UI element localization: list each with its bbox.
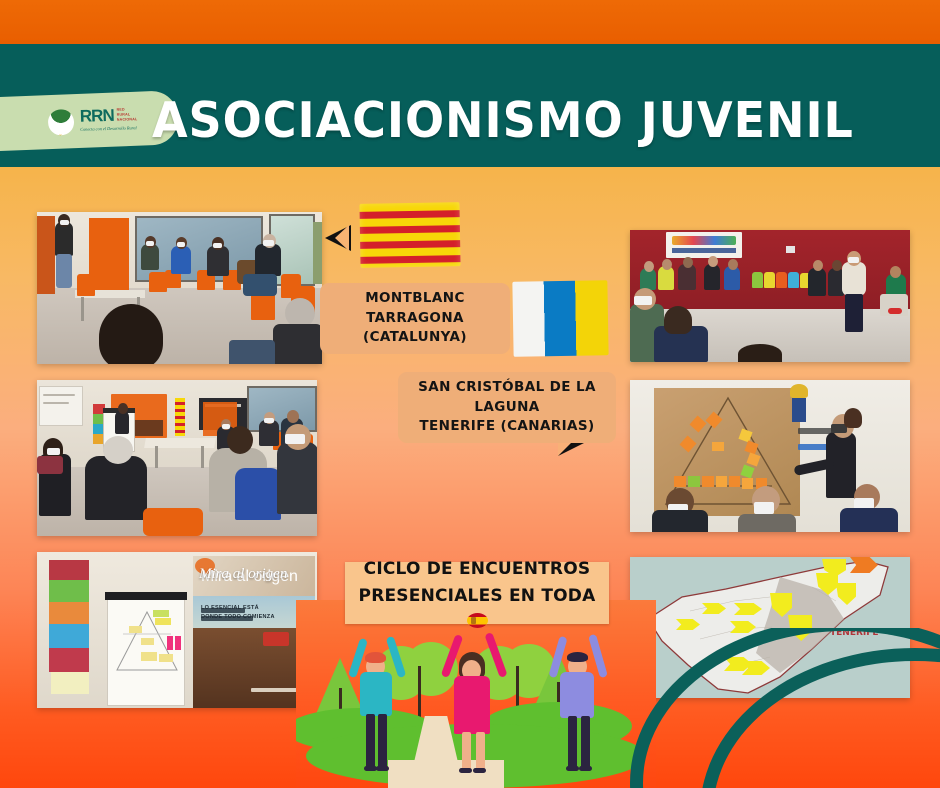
photo-juventud-canarias-hall [630,230,910,362]
photo-map-tenerife: TENERIFE [630,557,910,698]
poster-sub-2: DONDE TODO COMIENZA [201,614,275,620]
photo-poster-mira-al-origen: Mira al origen Mira al origen LO ESENCIA… [37,552,317,708]
poster-headline-text: Mira al origen [199,566,287,583]
photo-workshop-pyramid [630,380,910,532]
map-label-tenerife: TENERIFE [830,628,879,638]
poster-canvas: RRN RED RURAL NACIONAL Conecta con el De… [0,0,940,788]
location-label-la-laguna: SAN CRISTÓBAL DE LA LAGUNA TENERIFE (CAN… [398,372,616,443]
page-title: ASOCIACIONISMO JUVENIL [28,92,912,149]
banner-line-2: PRESENCIALES EN TODA [359,586,596,607]
tenerife-map-graphic: TENERIFE [630,557,910,698]
poster-sub-1: LO ESENCIAL ESTÁ [201,605,259,611]
canary-islands-flag-icon [512,280,608,357]
photo-montblanc-meeting-room [37,212,322,364]
people-holding-banner-illustration [296,600,656,788]
location-1-line-2: TARRAGONA (CATALUNYA) [332,309,498,348]
banner-line-1: CICLO DE ENCUENTROS [351,559,603,580]
catalonia-flag-icon [359,202,460,268]
top-orange-band [0,0,940,44]
header-bar: RRN RED RURAL NACIONAL Conecta con el De… [0,44,940,167]
event-banner: CICLO DE ENCUENTROS PRESENCIALES EN TODA [345,562,609,624]
spain-flag-icon [467,613,488,628]
location-1-line-1: MONTBLANC [332,289,498,309]
location-2-line-2: TENERIFE (CANARIAS) [410,417,604,437]
photo-montblanc-presentation [37,380,317,536]
location-label-montblanc: MONTBLANC TARRAGONA (CATALUNYA) [320,283,510,354]
location-2-line-1: SAN CRISTÓBAL DE LA LAGUNA [410,378,604,417]
arrow-left-icon [325,225,351,251]
